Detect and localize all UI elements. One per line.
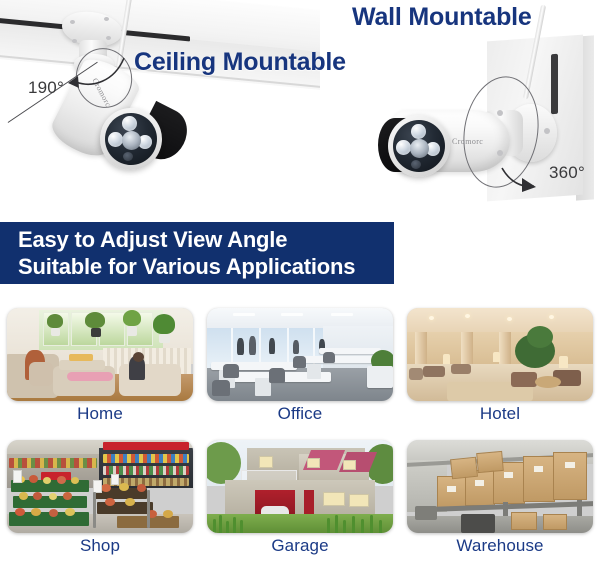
camera-lens-left xyxy=(122,131,141,150)
warehouse-photo xyxy=(407,440,593,533)
banner-line-2: Suitable for Various Applications xyxy=(18,253,394,280)
caption-garage: Garage xyxy=(271,536,328,556)
application-grid: Home xyxy=(0,302,600,561)
garage-photo xyxy=(207,440,393,533)
application-tile-warehouse[interactable]: Warehouse xyxy=(400,440,600,562)
caption-warehouse: Warehouse xyxy=(456,536,543,556)
application-row-2: Shop xyxy=(0,440,600,562)
hotel-photo xyxy=(407,308,593,401)
application-tile-shop[interactable]: Shop xyxy=(0,440,200,562)
mount-screw xyxy=(106,36,111,40)
rotation-arrow-left xyxy=(62,52,132,98)
camera-lens-right xyxy=(410,139,429,158)
camera-ir-led xyxy=(108,132,123,147)
angle-label-360: 360° xyxy=(549,163,585,183)
heading-wall-mountable: Wall Mountable xyxy=(352,3,532,32)
angle-label-190: 190° xyxy=(28,78,64,98)
camera-light-sensor xyxy=(411,160,421,169)
home-photo xyxy=(7,308,193,401)
wall-dark-strip xyxy=(551,54,558,114)
caption-home: Home xyxy=(77,404,123,424)
caption-office: Office xyxy=(278,404,323,424)
application-row-1: Home xyxy=(0,308,600,430)
caption-hotel: Hotel xyxy=(480,404,520,424)
banner-line-1: Easy to Adjust View Angle xyxy=(18,226,394,253)
camera-ir-led xyxy=(122,116,137,131)
camera-ir-led xyxy=(411,124,426,139)
application-tile-office[interactable]: Office xyxy=(200,308,400,430)
headline-banner: Easy to Adjust View Angle Suitable for V… xyxy=(0,222,394,284)
mount-screw xyxy=(72,39,77,43)
camera-ir-led xyxy=(396,140,411,155)
office-photo xyxy=(207,308,393,401)
application-tile-hotel[interactable]: Hotel xyxy=(400,308,600,430)
mount-screw xyxy=(104,17,109,21)
housing-screw xyxy=(544,128,550,134)
hero-section: Cromorc 190° Cromorc xyxy=(0,0,600,222)
shop-photo xyxy=(7,440,193,533)
caption-shop: Shop xyxy=(80,536,120,556)
camera-light-sensor xyxy=(123,152,133,161)
application-tile-home[interactable]: Home xyxy=(0,308,200,430)
heading-ceiling-mountable: Ceiling Mountable xyxy=(134,48,346,77)
mount-screw xyxy=(70,20,75,24)
application-tile-garage[interactable]: Garage xyxy=(200,440,400,562)
